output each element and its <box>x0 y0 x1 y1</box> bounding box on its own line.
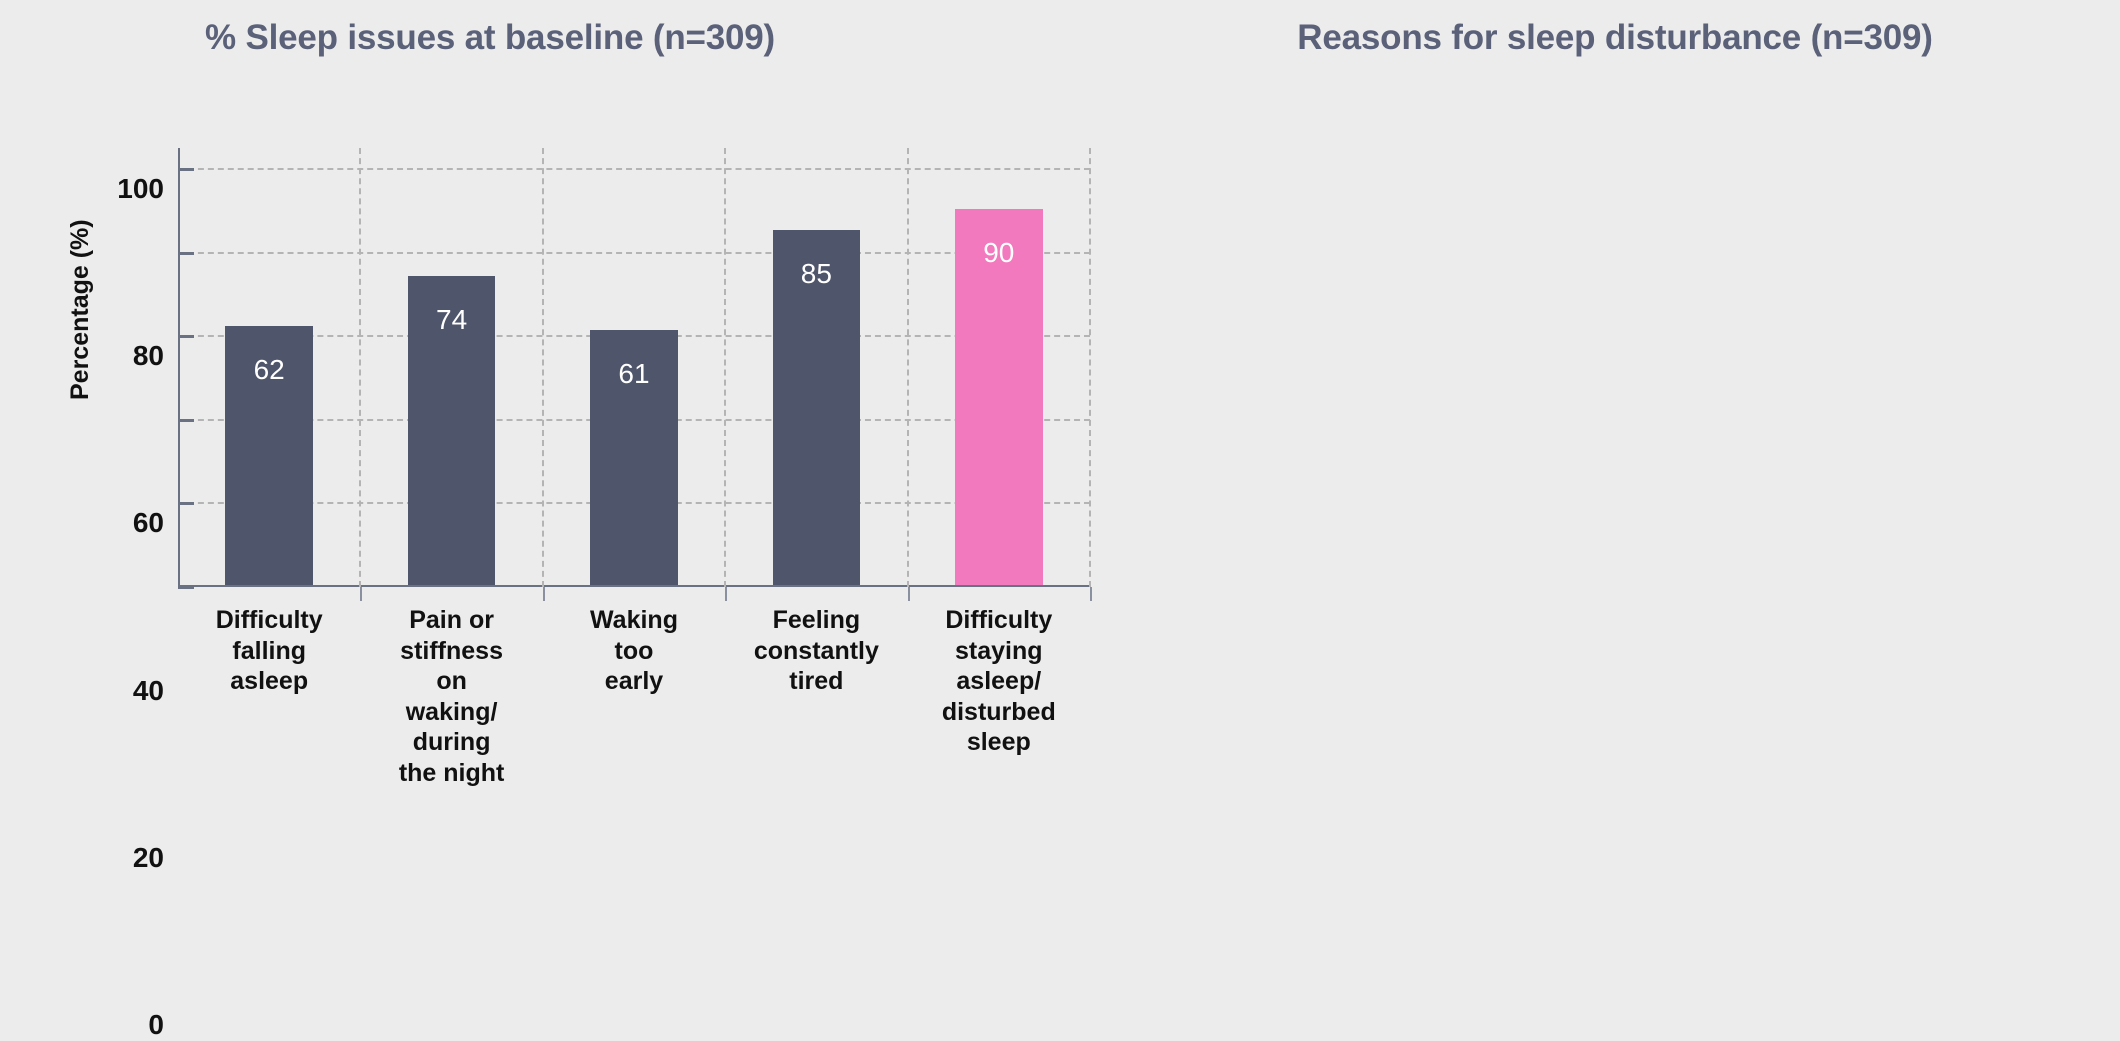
bar[interactable]: 61 <box>590 330 678 585</box>
chart-title-right: Reasons for sleep disturbance (n=309) <box>1130 18 2100 58</box>
gridline-horizontal <box>178 168 1090 170</box>
x-axis-category-label-line: sleep <box>908 727 1090 758</box>
x-axis-category-label: Wakingtooearly <box>543 605 725 697</box>
x-axis-category-label-line: Difficulty <box>178 605 360 636</box>
y-axis-tick-label: 100 <box>117 173 164 205</box>
x-axis-category-label-line: asleep <box>178 666 360 697</box>
x-axis-category-label-line: on <box>360 666 542 697</box>
x-axis-category-label-line: disturbed <box>908 697 1090 728</box>
y-axis-tick-label: 40 <box>133 675 164 707</box>
x-axis-category-label: Difficultystayingasleep/disturbedsleep <box>908 605 1090 758</box>
x-axis-category-label-line: Waking <box>543 605 725 636</box>
y-axis-tick-label: 80 <box>133 340 164 372</box>
x-axis-category-label-line: staying <box>908 636 1090 667</box>
x-axis-tick <box>1090 587 1092 601</box>
x-axis-category-label-line: waking/ <box>360 697 542 728</box>
x-axis-tick <box>543 587 545 601</box>
x-axis-category-label-line: falling <box>178 636 360 667</box>
x-axis-tick <box>725 587 727 601</box>
bar-value-label: 61 <box>590 358 678 390</box>
gridline-vertical <box>907 148 909 587</box>
x-axis-category-label-line: early <box>543 666 725 697</box>
chart-panel-left: % Sleep issues at baseline (n=309) Perce… <box>0 0 1150 878</box>
bar[interactable]: 74 <box>408 276 496 585</box>
chart-panel-right: Reasons for sleep disturbance (n=309) Pe… <box>1150 0 2120 878</box>
chart-title-left: % Sleep issues at baseline (n=309) <box>0 18 1065 58</box>
y-axis-tick-label: 60 <box>133 507 164 539</box>
bar-value-label: 62 <box>225 354 313 386</box>
bar[interactable]: 85 <box>773 230 861 585</box>
x-axis-category-label-line: asleep/ <box>908 666 1090 697</box>
figure-canvas: % Sleep issues at baseline (n=309) Perce… <box>0 0 2120 878</box>
x-axis-tick <box>908 587 910 601</box>
x-axis-category-label-line: tired <box>725 666 907 697</box>
x-axis-category-label: Feelingconstantlytired <box>725 605 907 697</box>
y-axis-tick: 20 <box>178 502 194 505</box>
bar[interactable]: 62 <box>225 326 313 585</box>
bar-value-label: 74 <box>408 304 496 336</box>
y-axis-tick-label: 20 <box>133 842 164 874</box>
x-axis-category-label-line: stiffness <box>360 636 542 667</box>
gridline-vertical <box>542 148 544 587</box>
y-axis-tick: 0 <box>178 586 194 589</box>
gridline-horizontal <box>178 252 1090 254</box>
x-axis-category-label: Pain orstiffnessonwaking/duringthe night <box>360 605 542 788</box>
x-axis-category-label-line: Feeling <box>725 605 907 636</box>
x-axis-category-label-line: Difficulty <box>908 605 1090 636</box>
y-axis-tick: 40 <box>178 419 194 422</box>
x-axis-spine-left <box>178 585 1090 587</box>
bar[interactable]: 90 <box>955 209 1043 585</box>
x-axis-category-label-line: during <box>360 727 542 758</box>
x-axis-category-label-line: the night <box>360 758 542 789</box>
x-axis-category-label-line: constantly <box>725 636 907 667</box>
y-axis-label-left: Percentage (%) <box>66 219 95 400</box>
gridline-vertical <box>1089 148 1091 587</box>
bar-value-label: 85 <box>773 258 861 290</box>
x-axis-tick <box>360 587 362 601</box>
x-axis-category-label-line: Pain or <box>360 605 542 636</box>
x-axis-category-label-line: too <box>543 636 725 667</box>
y-axis-tick: 80 <box>178 252 194 255</box>
y-axis-tick-label: 0 <box>148 1009 164 1041</box>
y-axis-spine-left <box>178 148 180 587</box>
bar-value-label: 90 <box>955 237 1043 269</box>
plot-area-left: 02040608010062Difficultyfallingasleep74P… <box>178 148 1090 587</box>
gridline-vertical <box>359 148 361 587</box>
y-axis-tick: 100 <box>178 168 194 171</box>
x-axis-category-label: Difficultyfallingasleep <box>178 605 360 697</box>
y-axis-tick: 60 <box>178 335 194 338</box>
gridline-vertical <box>724 148 726 587</box>
